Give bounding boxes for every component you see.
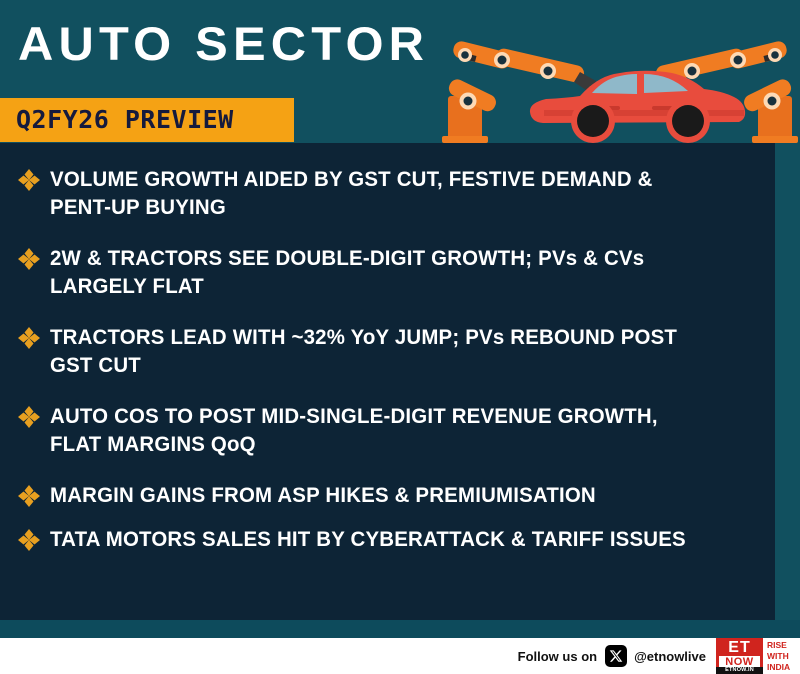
teal-divider-band — [0, 620, 800, 638]
etnow-logo[interactable]: ET NOW ETNOW.IN — [716, 638, 763, 674]
auto-sector-infographic: AUTO SECTOR — [0, 0, 800, 674]
list-item-text: VOLUME GROWTH AIDED BY GST CUT, FESTIVE … — [50, 165, 714, 221]
diamond-cluster-bullet-icon — [18, 169, 40, 191]
preview-banner: Q2FY26 PREVIEW — [0, 98, 294, 142]
tagline-line-1: RISE — [767, 640, 787, 650]
list-item: VOLUME GROWTH AIDED BY GST CUT, FESTIVE … — [0, 165, 775, 221]
list-item-text: 2W & TRACTORS SEE DOUBLE-DIGIT GROWTH; P… — [50, 244, 714, 300]
list-item-text: MARGIN GAINS FROM ASP HIKES & PREMIUMISA… — [50, 481, 714, 509]
tagline-line-3: INDIA — [767, 662, 790, 672]
bullet-list: VOLUME GROWTH AIDED BY GST CUT, FESTIVE … — [0, 143, 775, 569]
x-twitter-icon[interactable] — [605, 645, 627, 667]
etnow-logo-et: ET — [716, 639, 763, 656]
list-item: AUTO COS TO POST MID-SINGLE-DIGIT REVENU… — [0, 402, 775, 458]
etnow-logo-url: ETNOW.IN — [716, 667, 763, 674]
follow-us-label: Follow us on — [518, 649, 597, 664]
diamond-cluster-bullet-icon — [18, 406, 40, 428]
diamond-cluster-bullet-icon — [18, 248, 40, 270]
list-item: TRACTORS LEAD WITH ~32% YoY JUMP; PVs RE… — [0, 323, 775, 379]
footer-bar: Follow us on @etnowlive ET NOW ETNOW.IN … — [0, 638, 800, 674]
diamond-cluster-bullet-icon — [18, 485, 40, 507]
list-item-text: AUTO COS TO POST MID-SINGLE-DIGIT REVENU… — [50, 402, 714, 458]
page-title: AUTO SECTOR — [18, 20, 429, 67]
social-handle[interactable]: @etnowlive — [634, 649, 706, 664]
preview-banner-label: Q2FY26 PREVIEW — [16, 106, 234, 134]
rise-with-india-tagline: RISE WITH INDIA — [763, 638, 800, 674]
list-item-text: TRACTORS LEAD WITH ~32% YoY JUMP; PVs RE… — [50, 323, 714, 379]
list-item: 2W & TRACTORS SEE DOUBLE-DIGIT GROWTH; P… — [0, 244, 775, 300]
diamond-cluster-bullet-icon — [18, 327, 40, 349]
diamond-cluster-bullet-icon — [18, 529, 40, 551]
list-item-text: TATA MOTORS SALES HIT BY CYBERATTACK & T… — [50, 525, 714, 553]
header-band: AUTO SECTOR — [0, 0, 800, 143]
list-item: TATA MOTORS SALES HIT BY CYBERATTACK & T… — [0, 525, 775, 553]
list-item: MARGIN GAINS FROM ASP HIKES & PREMIUMISA… — [0, 481, 775, 509]
body-panel-edge — [775, 143, 800, 620]
tagline-line-2: WITH — [767, 651, 789, 661]
car-assembly-robot-arms-illustration — [440, 24, 800, 143]
